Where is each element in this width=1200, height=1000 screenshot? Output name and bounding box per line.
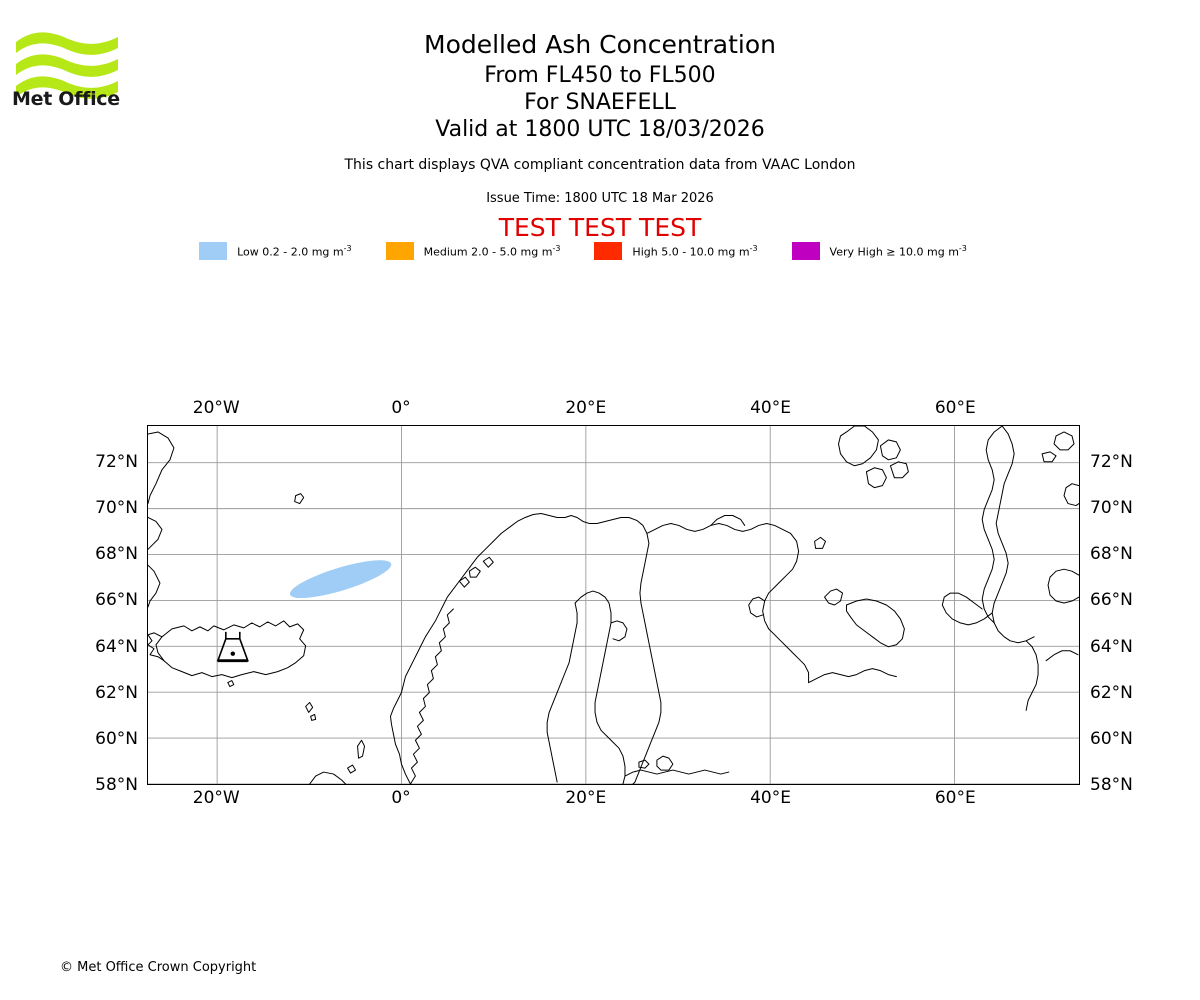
legend-color-swatch — [594, 242, 622, 260]
legend-label: High 5.0 - 10.0 mg m-3 — [632, 244, 757, 259]
legend-item: High 5.0 - 10.0 mg m-3 — [594, 242, 791, 260]
legend-color-swatch — [199, 242, 227, 260]
lat-tick-label-right: 70°N — [1090, 498, 1168, 518]
lat-tick-label-right: 72°N — [1090, 452, 1168, 472]
legend-label: Medium 2.0 - 5.0 mg m-3 — [424, 244, 561, 259]
lat-tick-label-left: 64°N — [60, 637, 138, 657]
legend-color-swatch — [386, 242, 414, 260]
chart-title: Modelled Ash Concentration — [0, 30, 1200, 59]
legend-label: Very High ≥ 10.0 mg m-3 — [830, 244, 967, 259]
lat-tick-label-left: 66°N — [60, 590, 138, 610]
copyright-notice: © Met Office Crown Copyright — [60, 960, 256, 975]
lon-tick-label-top: 60°E — [935, 398, 976, 418]
flight-level-range: From FL450 to FL500 — [0, 63, 1200, 88]
lon-tick-label-bottom: 40°E — [750, 788, 791, 808]
lat-tick-label-right: 58°N — [1090, 775, 1168, 795]
legend-label: Low 0.2 - 2.0 mg m-3 — [237, 244, 352, 259]
lon-tick-label-top: 20°W — [193, 398, 240, 418]
legend-item: Medium 2.0 - 5.0 mg m-3 — [386, 242, 595, 260]
lat-tick-label-left: 60°N — [60, 729, 138, 749]
lat-tick-label-left: 72°N — [60, 452, 138, 472]
lon-tick-label-top: 20°E — [565, 398, 606, 418]
map-gridlines — [148, 426, 1079, 784]
lon-tick-label-bottom: 0° — [391, 788, 410, 808]
lat-tick-label-right: 60°N — [1090, 729, 1168, 749]
lon-tick-label-bottom: 20°E — [565, 788, 606, 808]
lon-tick-label-top: 0° — [391, 398, 410, 418]
lat-tick-label-right: 68°N — [1090, 544, 1168, 564]
issue-time: Issue Time: 1800 UTC 18 Mar 2026 — [0, 191, 1200, 206]
lat-tick-label-right: 64°N — [1090, 637, 1168, 657]
coastlines — [148, 426, 1079, 784]
lon-tick-label-top: 40°E — [750, 398, 791, 418]
lat-tick-label-left: 62°N — [60, 683, 138, 703]
legend-color-swatch — [792, 242, 820, 260]
legend-item: Very High ≥ 10.0 mg m-3 — [792, 242, 1001, 260]
lon-tick-label-bottom: 60°E — [935, 788, 976, 808]
legend-item: Low 0.2 - 2.0 mg m-3 — [199, 242, 386, 260]
qva-note: This chart displays QVA compliant concen… — [0, 157, 1200, 173]
lat-tick-label-left: 58°N — [60, 775, 138, 795]
lon-tick-label-bottom: 20°W — [193, 788, 240, 808]
map-canvas — [148, 426, 1079, 784]
lat-tick-label-right: 62°N — [1090, 683, 1168, 703]
lat-tick-label-left: 68°N — [60, 544, 138, 564]
ash-plume-low — [287, 553, 395, 606]
valid-time: Valid at 1800 UTC 18/03/2026 — [0, 117, 1200, 142]
volcano-site-name: For SNAEFELL — [0, 90, 1200, 115]
map-plot-area[interactable] — [147, 425, 1080, 785]
concentration-legend: Low 0.2 - 2.0 mg m-3Medium 2.0 - 5.0 mg … — [0, 242, 1200, 260]
lat-tick-label-right: 66°N — [1090, 590, 1168, 610]
test-banner: TEST TEST TEST — [0, 213, 1200, 242]
lat-tick-label-left: 70°N — [60, 498, 138, 518]
